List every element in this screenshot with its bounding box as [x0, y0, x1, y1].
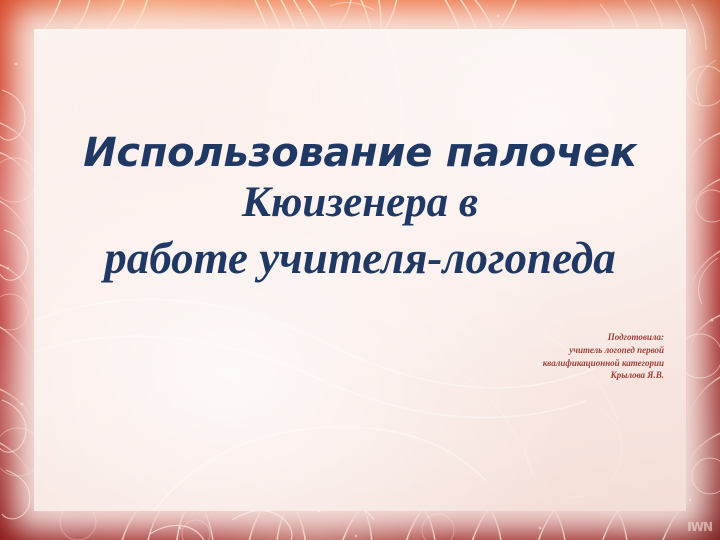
slide-content: Использование палочек Кюизенера в работе…	[34, 29, 686, 511]
title-line-1: Использование палочек	[34, 132, 686, 180]
watermark-logo: IWN	[687, 520, 712, 534]
title-line-3: работе учителя-логопеда	[34, 235, 686, 282]
title-line-2: Кюизенера в	[34, 180, 686, 235]
author-line-role: учитель логопед первой	[364, 344, 664, 357]
author-line-name: Крылова Я.В.	[364, 369, 664, 382]
author-line-qualification: квалификационной категории	[364, 357, 664, 370]
presentation-slide: Использование палочек Кюизенера в работе…	[0, 0, 720, 540]
slide-title: Использование палочек Кюизенера в работе…	[34, 132, 686, 282]
author-block: Подготовила: учитель логопед первой квал…	[364, 331, 664, 382]
author-line-prepared-by: Подготовила:	[364, 331, 664, 344]
